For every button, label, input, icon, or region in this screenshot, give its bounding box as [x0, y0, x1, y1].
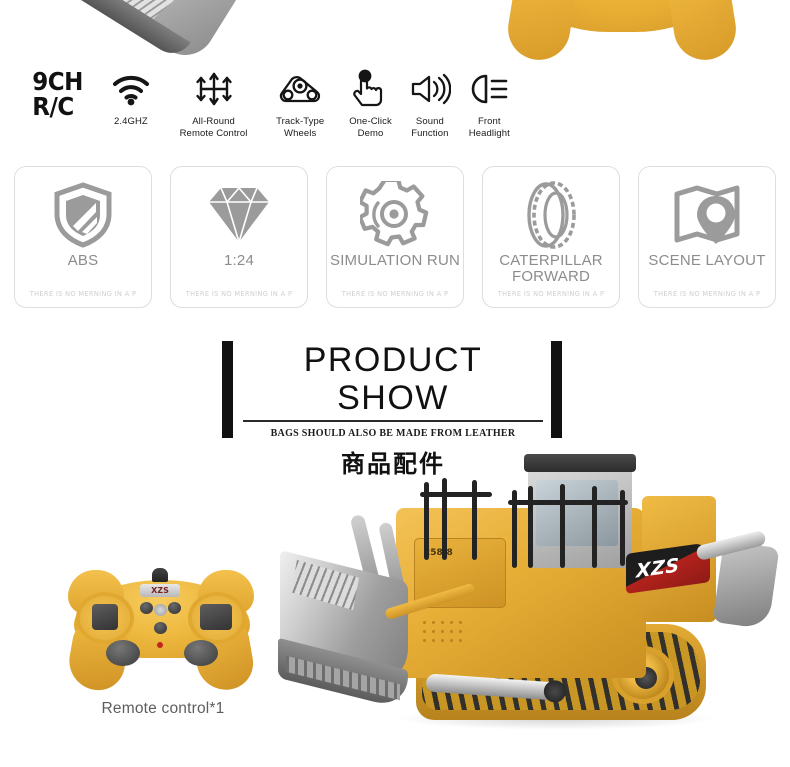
front-rail-cross	[420, 492, 492, 497]
cabin-rail-2	[528, 486, 533, 568]
map-pin-icon	[639, 179, 775, 251]
tire-icon	[483, 179, 619, 251]
banner-bar-right	[551, 341, 562, 438]
remote-control-photo: XZS Remote control*1	[48, 566, 278, 766]
remote-button-2	[168, 602, 181, 614]
remote-control-image: XZS	[56, 566, 266, 691]
remote-controller-crop	[508, 0, 736, 62]
feature-title: ABS	[68, 253, 99, 269]
track-wheels-icon	[274, 66, 326, 112]
diamond-icon	[171, 179, 307, 251]
spec-item-channel: 9CH R/C	[20, 66, 95, 119]
feature-title: SCENE LAYOUT	[648, 253, 765, 269]
cabin-rail-cross	[508, 500, 628, 505]
feature-card-caterpillar-forward[interactable]: CATERPILLAR FORWARD THERE IS NO MERNING …	[482, 166, 620, 308]
remote-button-3	[154, 622, 167, 634]
spec-label-frequency: 2.4GHZ	[114, 116, 148, 128]
feature-subtitle: THERE IS NO MERNING IN A P	[186, 290, 293, 298]
remote-control-caption: Remote control*1	[48, 700, 278, 718]
bulldozer-cabin	[528, 464, 632, 568]
spec-item-frequency: 2.4GHZ	[95, 66, 166, 128]
gear-icon	[327, 179, 463, 251]
spec-icon-row: 9CH R/C 2.4GHZ	[20, 66, 520, 152]
controller-grip-right	[666, 0, 741, 62]
badge-text: XZS	[636, 554, 680, 582]
spec-label-all-round: All-Round Remote Control	[180, 116, 248, 139]
controller-grip-left	[504, 0, 579, 62]
spec-item-all-round: All-Round Remote Control	[167, 66, 261, 139]
feature-card-simulation-run[interactable]: SIMULATION RUN THERE IS NO MERNING IN A …	[326, 166, 464, 308]
bulldozer-photo: 258-8 XZS	[276, 456, 790, 767]
spec-label-headlight: Front Headlight	[469, 116, 510, 139]
product-show-banner: PRODUCT SHOW BAGS SHOULD ALSO BE MADE FR…	[0, 336, 790, 444]
spec-label-sound: Sound Function	[411, 116, 448, 139]
remote-switch-right	[200, 604, 232, 630]
bulldozer-blade-crop	[71, 0, 253, 62]
feature-subtitle: THERE IS NO MERNING IN A P	[342, 290, 449, 298]
one-click-hand-icon	[352, 66, 388, 112]
top-image-strip	[0, 0, 790, 62]
bulldozer-blade	[280, 566, 430, 714]
feature-title: CATERPILLAR FORWARD	[483, 253, 619, 285]
remote-led-indicator	[157, 642, 163, 648]
speaker-icon	[409, 66, 451, 112]
headlight-icon	[468, 66, 510, 112]
feature-subtitle: THERE IS NO MERNING IN A P	[654, 290, 761, 298]
remote-button-center	[154, 604, 167, 616]
feature-card-scale[interactable]: 1:24 THERE IS NO MERNING IN A P	[170, 166, 308, 308]
banner-bar-left	[222, 341, 233, 438]
bulldozer-ripper	[700, 534, 786, 630]
channel-line-1: 9CH	[32, 69, 83, 94]
feature-card-row: ABS THERE IS NO MERNING IN A P 1:24 THER…	[14, 166, 776, 308]
spec-item-one-click: One-Click Demo	[340, 66, 401, 139]
cabin-rail-4	[592, 486, 597, 568]
remote-joystick-right	[184, 640, 218, 666]
banner-title: PRODUCT SHOW	[243, 341, 543, 417]
spec-label-track-wheels: Track-Type Wheels	[276, 116, 324, 139]
product-photo-zone: XZS Remote control*1 258-8	[0, 446, 790, 767]
remote-button-1	[140, 602, 153, 614]
cabin-window	[536, 480, 618, 546]
remote-switch-left	[92, 604, 118, 630]
banner-subtitle: BAGS SHOULD ALSO BE MADE FROM LEATHER	[243, 428, 543, 439]
feature-title: 1:24	[224, 253, 254, 269]
remote-joystick-left	[106, 640, 140, 666]
channel-line-2: R/C	[32, 94, 83, 119]
cabin-roof	[524, 454, 636, 472]
banner-divider	[243, 420, 543, 422]
shield-icon	[15, 179, 151, 251]
spec-label-one-click: One-Click Demo	[349, 116, 392, 139]
spec-item-sound: Sound Function	[401, 66, 458, 139]
cabin-rail-3	[560, 484, 565, 568]
front-rail-2	[442, 478, 447, 560]
all-round-arrows-icon	[193, 66, 235, 112]
remote-logo: XZS	[140, 584, 180, 597]
remote-antenna	[152, 568, 168, 582]
channel-badge: 9CH R/C	[32, 66, 83, 119]
spec-item-headlight: Front Headlight	[459, 66, 520, 139]
feature-title: SIMULATION RUN	[330, 253, 460, 269]
feature-subtitle: THERE IS NO MERNING IN A P	[30, 290, 137, 298]
feature-card-abs[interactable]: ABS THERE IS NO MERNING IN A P	[14, 166, 152, 308]
feature-card-scene-layout[interactable]: SCENE LAYOUT THERE IS NO MERNING IN A P	[638, 166, 776, 308]
wifi-icon	[111, 66, 151, 112]
spec-item-track-wheels: Track-Type Wheels	[261, 66, 340, 139]
feature-subtitle: THERE IS NO MERNING IN A P	[498, 290, 605, 298]
